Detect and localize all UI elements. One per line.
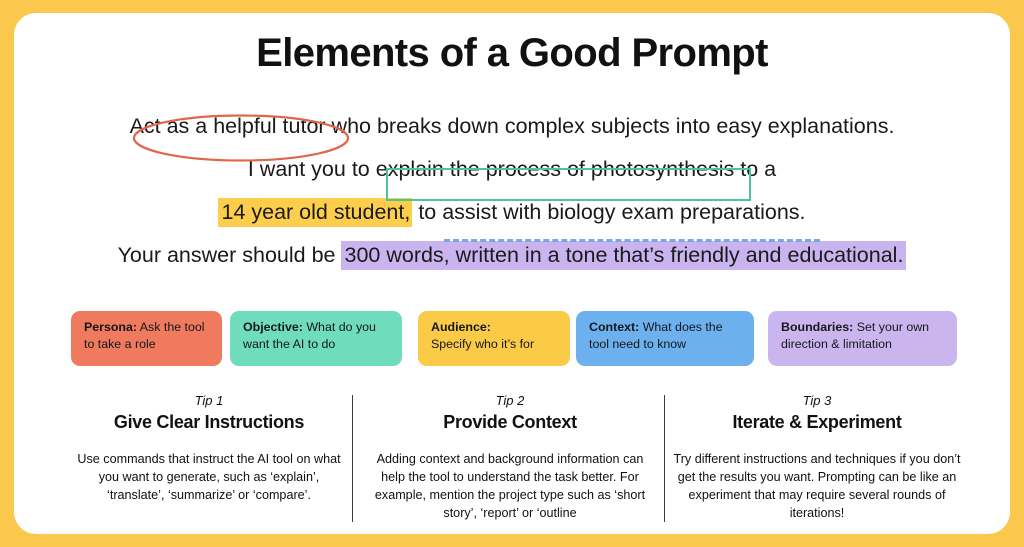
tip-3-body: Try different instructions and technique… [672,450,962,522]
legend-card-boundaries: Boundaries: Set your own direction & lim… [768,311,957,366]
tip-1-number: Tip 1 [70,392,348,410]
legend-card-audience-text: Specify who it’s for [431,337,534,351]
legend-card-objective-label: Objective: [243,320,303,334]
tip-2-number: Tip 2 [364,392,656,410]
legend-card-persona-label: Persona: [84,320,137,334]
legend-card-audience: Audience:Specify who it’s for [418,311,570,366]
legend-card-audience-label: Audience: [431,320,491,334]
tip-card-2: Tip 2 Provide Context Adding context and… [364,392,656,522]
tips-section: Tip 1 Give Clear Instructions Use comman… [14,392,1010,532]
tip-2-heading: Provide Context [364,411,656,434]
prompt-line-3-underlined: to assist with biology exam preparations… [412,200,805,224]
element-legend-cards: Persona: Ask the tool to take a role Obj… [14,311,1010,367]
legend-card-context: Context: What does the tool need to know [576,311,754,366]
tip-3-heading: Iterate & Experiment [672,411,962,434]
prompt-line-1-rest: who breaks down complex subjects into ea… [326,114,895,138]
legend-card-boundaries-label: Boundaries: [781,320,853,334]
prompt-example-block: Act as a helpful tutor who breaks down c… [14,105,1010,277]
tip-1-heading: Give Clear Instructions [70,411,348,434]
poster-frame: Elements of a Good Prompt Act as a helpf… [0,0,1024,547]
legend-card-persona: Persona: Ask the tool to take a role [71,311,222,366]
prompt-line-3-highlight: 14 year old student, [218,198,412,227]
tip-3-number: Tip 3 [672,392,962,410]
page-title: Elements of a Good Prompt [14,31,1010,75]
legend-card-context-label: Context: [589,320,639,334]
legend-card-objective: Objective: What do you want the AI to do [230,311,402,366]
prompt-line-4: Your answer should be 300 words, written… [14,234,1010,277]
prompt-line-4-highlight: 300 words, written in a tone that’s frie… [341,241,906,270]
prompt-line-1: Act as a helpful tutor who breaks down c… [14,105,1010,148]
poster-canvas: Elements of a Good Prompt Act as a helpf… [14,13,1010,534]
prompt-line-4-before: Your answer should be [118,243,342,267]
prompt-line-2-after: to a [734,157,776,181]
tip-card-1: Tip 1 Give Clear Instructions Use comman… [70,392,348,504]
prompt-line-3: 14 year old student, to assist with biol… [14,191,1010,234]
prompt-line-2-before: I want you to [248,157,376,181]
prompt-line-1-circled-text: Act as a helpful tutor [130,114,326,138]
tip-2-body: Adding context and background informatio… [364,450,656,522]
tip-1-body: Use commands that instruct the AI tool o… [70,450,348,504]
prompt-line-2: I want you to explain the process of pho… [14,148,1010,191]
tip-card-3: Tip 3 Iterate & Experiment Try different… [672,392,962,522]
prompt-line-2-boxed-text: explain the process of photosynthesis [376,157,735,181]
